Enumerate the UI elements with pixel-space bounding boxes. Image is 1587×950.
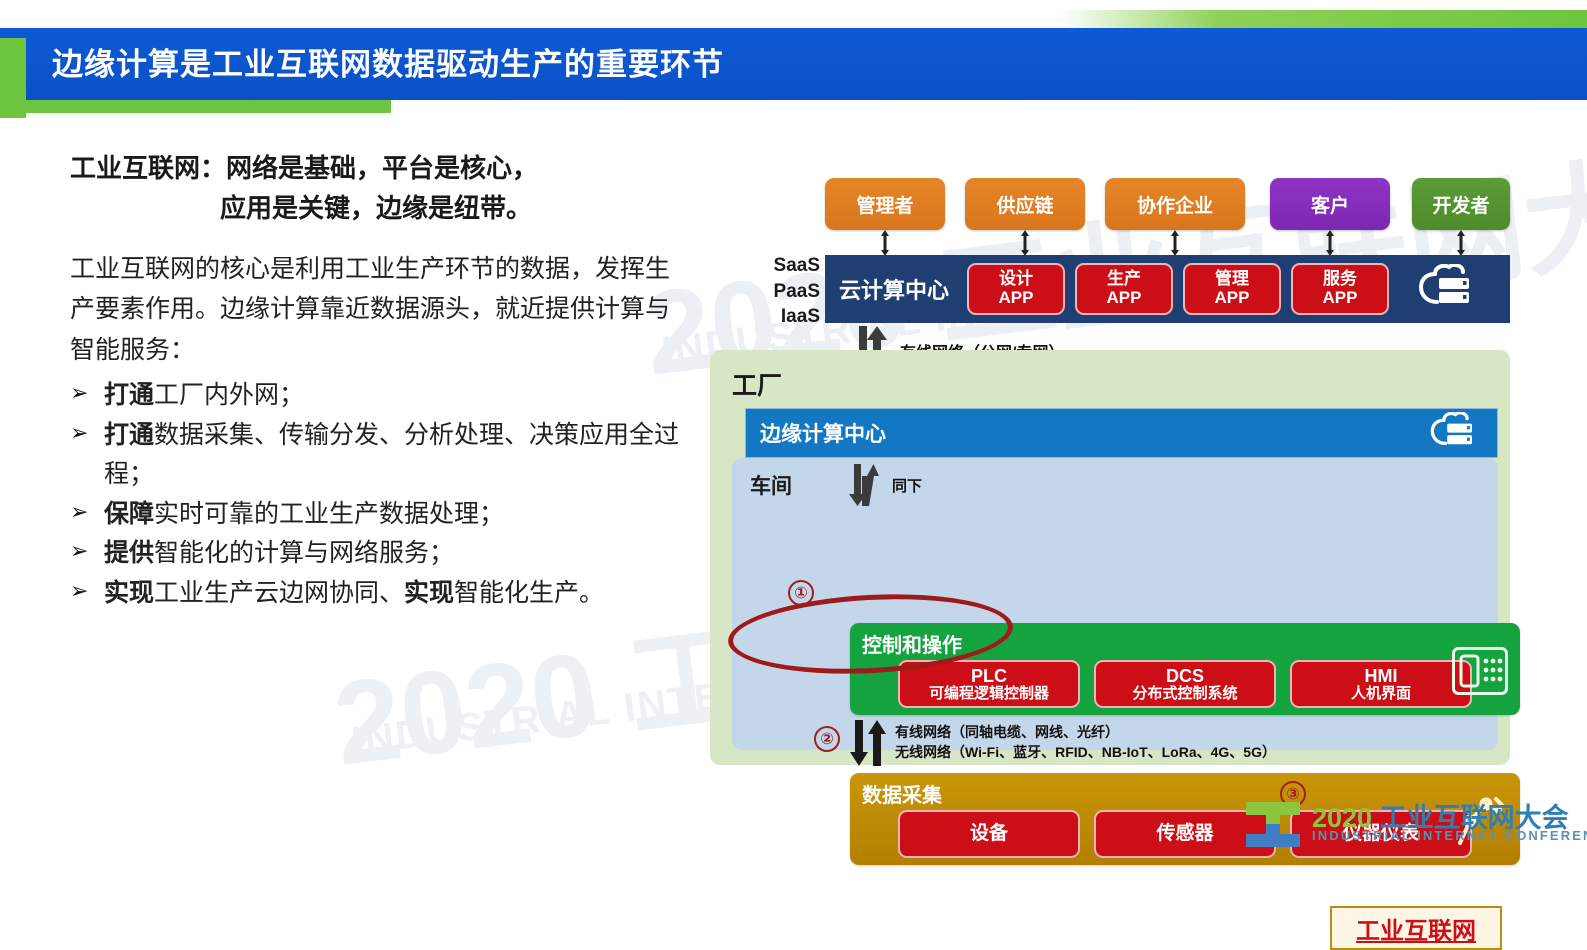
edge-note-same-as-below: 同下 xyxy=(892,476,922,498)
edge-control-link-arrows xyxy=(847,464,883,511)
label-saas: SaaS xyxy=(728,253,820,279)
role-box-manager[interactable]: 管理者 xyxy=(825,178,945,230)
double-arrow-icon xyxy=(1019,230,1031,256)
conference-logo: 2020 工业互联网大会 INDUSTRIAL INTERNET CONFERE… xyxy=(1244,798,1564,854)
chip-title: DCS xyxy=(1166,666,1204,686)
bullet-arrow-icon: ➢ xyxy=(70,416,104,495)
cloud-computing-center-band: 云计算中心 设计 APP 生产 APP 管理 APP 服务 APP xyxy=(825,255,1510,323)
control-daq-link-arrows xyxy=(850,720,886,771)
app-card-label-cn: 生产 xyxy=(1107,270,1141,289)
app-card-management[interactable]: 管理 APP xyxy=(1183,263,1281,315)
left-text-column: 工业互联网：网络是基础，平台是核心， 应用是关键，边缘是纽带。 工业互联网的核心… xyxy=(70,148,690,613)
label-paas: PaaS xyxy=(728,279,820,305)
list-item-text: 工厂内外网； xyxy=(154,381,304,409)
double-arrow-icon xyxy=(1455,230,1467,256)
workshop-label: 车间 xyxy=(750,470,792,500)
app-card-label-en: APP xyxy=(1323,289,1358,308)
hmi-panel-icon xyxy=(1452,647,1508,700)
list-item: ➢ 打通工厂内外网； xyxy=(70,376,690,416)
chip-subtitle: 分布式控制系统 xyxy=(1132,686,1237,703)
network-note-wired: 有线网络（同轴电缆、网线、光纤） xyxy=(895,722,1119,742)
logo-mark-icon xyxy=(1244,798,1304,850)
architecture-diagram: 管理者 供应链 协作企业 客户 开发者 SaaS PaaS IaaS 云计算中心… xyxy=(700,150,1510,780)
factory-label: 工厂 xyxy=(732,366,782,402)
network-note-wireless: 无线网络（Wi-Fi、蓝牙、RFID、NB-IoT、LoRa、4G、5G） xyxy=(895,742,1276,762)
double-arrow-icon xyxy=(1169,230,1181,256)
intro-paragraph: 工业互联网的核心是利用工业生产环节的数据，发挥生产要素作用。边缘计算靠近数据源头… xyxy=(70,249,690,371)
marker-2: ② xyxy=(814,726,840,752)
bullet-arrow-icon: ➢ xyxy=(70,376,104,416)
top-green-gradient-band xyxy=(1060,10,1587,30)
app-card-label-cn: 服务 xyxy=(1323,270,1357,289)
app-card-design[interactable]: 设计 APP xyxy=(967,263,1065,315)
app-card-production[interactable]: 生产 APP xyxy=(1075,263,1173,315)
app-card-label-en: APP xyxy=(999,289,1034,308)
role-box-partner-enterprise[interactable]: 协作企业 xyxy=(1105,178,1245,230)
role-box-supply-chain[interactable]: 供应链 xyxy=(965,178,1085,230)
chip-subtitle: 可编程逻辑控制器 xyxy=(929,686,1049,703)
bullet-list: ➢ 打通工厂内外网； ➢ 打通数据采集、传输分发、分析处理、决策应用全过程； ➢… xyxy=(70,376,690,613)
factory-panel: 工厂 边缘计算中心 车间 xyxy=(710,350,1510,765)
list-item: ➢ 提供智能化的计算与网络服务； xyxy=(70,534,690,574)
app-card-service[interactable]: 服务 APP xyxy=(1291,263,1389,315)
headline: 工业互联网：网络是基础，平台是核心， 应用是关键，边缘是纽带。 xyxy=(70,148,690,229)
app-card-label-cn: 管理 xyxy=(1215,270,1249,289)
list-item-text: 工业生产云边网协同、 xyxy=(154,579,404,607)
list-item-text: 实时可靠的工业生产数据处理； xyxy=(154,500,504,528)
list-item-bold: 提供 xyxy=(104,539,154,567)
title-underline-green-strip xyxy=(26,100,391,113)
edge-computing-center-band: 边缘计算中心 xyxy=(745,408,1498,458)
service-model-labels: SaaS PaaS IaaS xyxy=(728,253,820,330)
chip-title: 传感器 xyxy=(1156,823,1213,844)
chip-title: 设备 xyxy=(970,823,1008,844)
list-item-text: 智能化的计算与网络服务； xyxy=(154,539,454,567)
bullet-arrow-icon: ➢ xyxy=(70,534,104,574)
label-iaas: IaaS xyxy=(728,304,820,330)
page-title: 边缘计算是工业互联网数据驱动生产的重要环节 xyxy=(52,40,1152,90)
role-box-customer[interactable]: 客户 xyxy=(1270,178,1390,230)
title-left-green-accent xyxy=(0,38,26,118)
list-item-bold: 打通 xyxy=(104,421,154,449)
app-card-label-cn: 设计 xyxy=(999,270,1033,289)
chip-subtitle: 人机界面 xyxy=(1351,686,1411,703)
chip-title: HMI xyxy=(1365,666,1398,686)
list-item-text: 数据采集、传输分发、分析处理、决策应用全过程； xyxy=(104,421,679,489)
list-item-bold: 实现 xyxy=(104,579,154,607)
role-box-developer[interactable]: 开发者 xyxy=(1412,178,1510,230)
edge-center-title: 边缘计算中心 xyxy=(760,418,886,448)
control-chip-row: PLC 可编程逻辑控制器 DCS 分布式控制系统 HMI 人机界面 xyxy=(850,658,1520,708)
double-arrow-icon xyxy=(879,230,891,256)
app-card-label-en: APP xyxy=(1107,289,1142,308)
headline-line-2: 应用是关键，边缘是纽带。 xyxy=(70,188,690,228)
app-card-label-en: APP xyxy=(1215,289,1250,308)
headline-line-1: 工业互联网：网络是基础，平台是核心， xyxy=(70,153,538,183)
list-item-text-2: 智能化生产。 xyxy=(454,579,604,607)
list-item-bold-2: 实现 xyxy=(404,579,454,607)
bullet-arrow-icon: ➢ xyxy=(70,495,104,535)
chip-dcs[interactable]: DCS 分布式控制系统 xyxy=(1094,660,1276,708)
status-badge: 工业互联网 xyxy=(1330,906,1502,950)
bullet-arrow-icon: ➢ xyxy=(70,574,104,614)
list-item: ➢ 实现工业生产云边网协同、实现智能化生产。 xyxy=(70,574,690,614)
list-item: ➢ 保障实时可靠的工业生产数据处理； xyxy=(70,495,690,535)
chip-equipment[interactable]: 设备 xyxy=(898,810,1080,858)
list-item: ➢ 打通数据采集、传输分发、分析处理、决策应用全过程； xyxy=(70,416,690,495)
list-item-bold: 保障 xyxy=(104,500,154,528)
chip-hmi[interactable]: HMI 人机界面 xyxy=(1290,660,1472,708)
cloud-server-icon xyxy=(1427,412,1479,455)
list-item-bold: 打通 xyxy=(104,381,154,409)
chip-title: PLC xyxy=(971,666,1007,686)
logo-name-en: INDUSTRIAL INTERNET CONFERENCE xyxy=(1312,828,1587,843)
double-arrow-icon xyxy=(1324,230,1336,256)
cloud-center-title: 云计算中心 xyxy=(839,273,967,305)
cloud-server-icon xyxy=(1415,264,1477,315)
